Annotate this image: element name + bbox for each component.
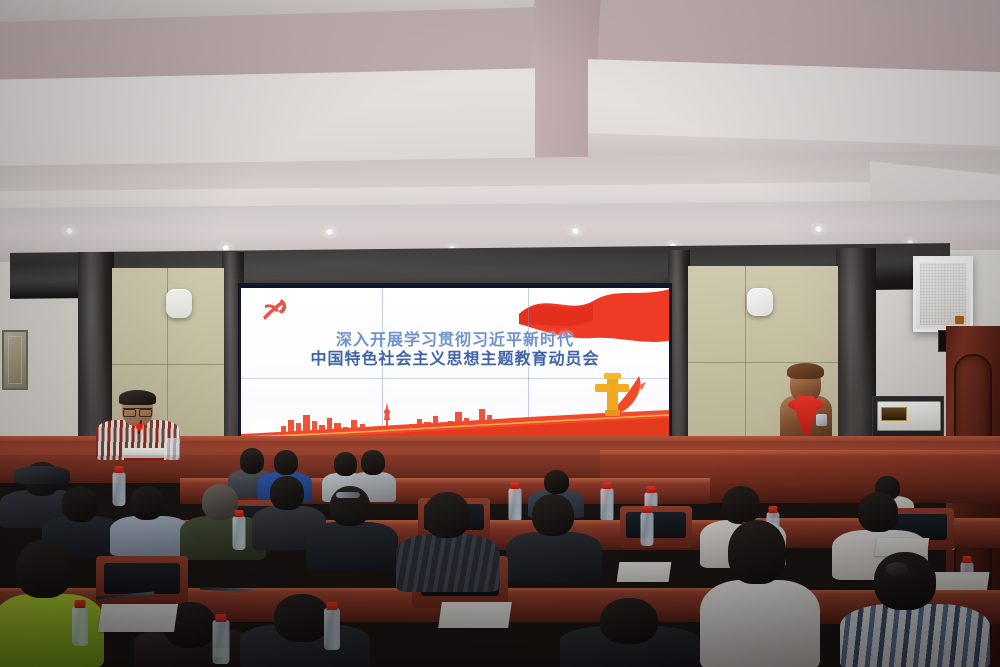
panel-seam [112,364,224,365]
speaker-nameplate [124,448,164,461]
person-torso [110,516,190,556]
water-bottle [324,602,340,652]
person-torso [700,580,820,667]
wall-speaker-left [166,289,192,318]
hat-icon [14,466,70,484]
person-head [274,594,330,642]
water-bottle [640,506,654,550]
person-head [270,476,304,510]
notebook [438,602,512,628]
bottle-body [212,620,229,664]
bottle-cap [327,602,338,610]
notebook [98,604,178,632]
audience-person [110,486,190,554]
presenter-hair [119,390,156,405]
audience-person [840,552,990,667]
person-torso [306,522,398,570]
stone-column-right [836,248,876,456]
downlight [814,226,823,232]
wall-speaker-center-right [747,288,773,316]
screen-headline: 深入开展学习贯彻习近平新时代 中国特色社会主义思想主题教育动员会 [241,332,669,370]
person-head [62,486,98,522]
screen-headline-line2: 中国特色社会主义思想主题教育动员会 [241,351,669,370]
bottle-body [641,512,654,546]
bust-statue [778,366,834,444]
speaker-logo-icon [955,316,964,324]
person-torso [506,532,602,582]
person-head [361,450,385,475]
audience-person [306,486,398,568]
bust-badge-icon [816,414,827,426]
person-head [130,486,164,520]
downlight [325,229,334,235]
torch-monument-graphic [585,370,649,418]
av-display [881,407,907,421]
person-head [600,598,658,644]
audience-chair[interactable] [620,506,692,548]
audience-person [240,594,370,667]
panel-seam [745,266,746,458]
bottle-cap [215,614,226,622]
hair-tie-icon [886,562,908,576]
person-head [544,470,569,494]
glasses-icon [123,408,152,414]
bottle-cap [511,482,520,489]
bust-hair [787,363,824,379]
water-bottle [72,600,88,648]
bottle-cap [603,482,612,489]
downlight [571,228,580,234]
hair-clip-icon [336,492,360,498]
audience-person [396,492,500,588]
bottle-cap [115,466,124,473]
person-torso [840,604,990,667]
water-cup [166,438,180,460]
person-head [722,486,760,524]
wall-speaker-right [913,256,973,332]
person-head [274,450,298,475]
bottle-body [324,608,340,650]
downlight [65,228,74,234]
bottle-cap [647,486,656,493]
person-head [532,494,574,536]
audience-person [560,598,700,667]
bottle-label [212,648,229,657]
bottle-cap [75,600,86,608]
framed-picture-left [2,330,28,390]
bottle-body [601,488,614,522]
water-bottle [212,614,229,666]
panel-seam [688,362,838,363]
person-head [728,520,786,584]
audience-person [0,540,104,667]
conference-room-photo: 深入开展学习贯彻习近平新时代 中国特色社会主义思想主题教育动员会 [0,0,1000,667]
ceiling [0,0,1000,262]
party-emblem-icon [259,296,289,324]
screen-content: 深入开展学习贯彻习近平新时代 中国特色社会主义思想主题教育动员会 [241,288,669,444]
water-bottle [232,510,246,552]
audience-person [700,520,820,667]
notebook [617,562,672,582]
chair-cushion [104,563,179,594]
chair-cushion [626,512,685,538]
person-head [424,492,470,538]
led-video-wall: 深入开展学习贯彻习近平新时代 中国特色社会主义思想主题教育动员会 [238,283,672,447]
person-head [858,492,898,532]
bottle-body [233,516,246,550]
audience-person [506,494,602,580]
bottle-cap [643,506,652,513]
bottle-body [72,606,88,646]
audience-chair[interactable] [96,556,188,606]
bottle-cap [235,510,244,517]
bottle-cap [769,506,778,513]
person-torso [0,594,104,667]
microphone-indicator-led [136,424,143,430]
water-bottle [600,482,614,524]
screen-headline-line1: 深入开展学习贯彻习近平新时代 [241,332,669,351]
person-head [874,552,936,610]
person-head [16,540,72,598]
person-torso [396,534,500,592]
